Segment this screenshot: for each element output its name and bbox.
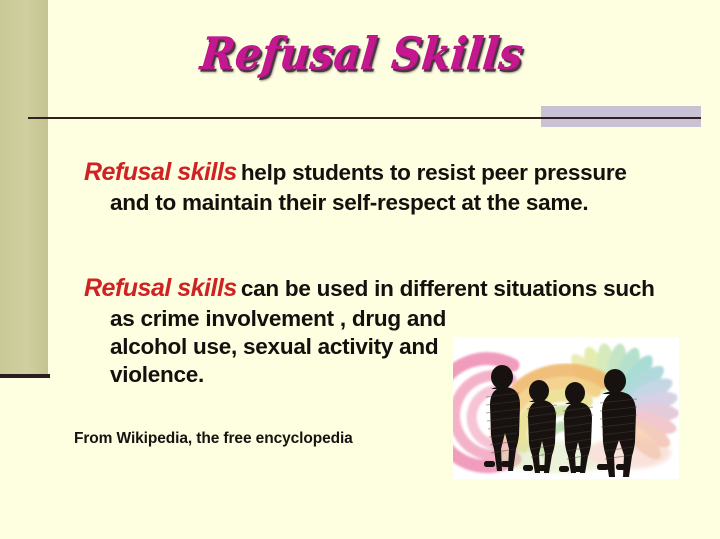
- page-title: Refusal Skills: [0, 30, 720, 78]
- paragraph-one-lead: Refusal skills: [84, 158, 241, 186]
- paragraph-one: Refusal skillshelp students to resist pe…: [84, 156, 659, 218]
- paragraph-two-line-1: can be used in different situations such: [241, 276, 655, 301]
- children-silhouette-image: [453, 337, 679, 479]
- paragraph-two-lead: Refusal skills: [84, 274, 241, 302]
- paragraph-one-line-2: and to maintain their self-respect at th…: [84, 188, 659, 218]
- paragraph-two-line-2: as crime involvement , drug and: [84, 304, 684, 334]
- divider-line: [28, 117, 701, 119]
- watercolor-burst-graphic: [453, 337, 679, 479]
- page-title-text: Refusal Skills: [198, 28, 525, 80]
- paragraph-one-line-1: help students to resist peer pressure: [241, 160, 627, 185]
- left-accent-bar-cap: [0, 374, 50, 378]
- slide-canvas: Refusal Skills Refusal skillshelp studen…: [0, 0, 720, 539]
- source-attribution: From Wikipedia, the free encyclopedia: [74, 430, 353, 448]
